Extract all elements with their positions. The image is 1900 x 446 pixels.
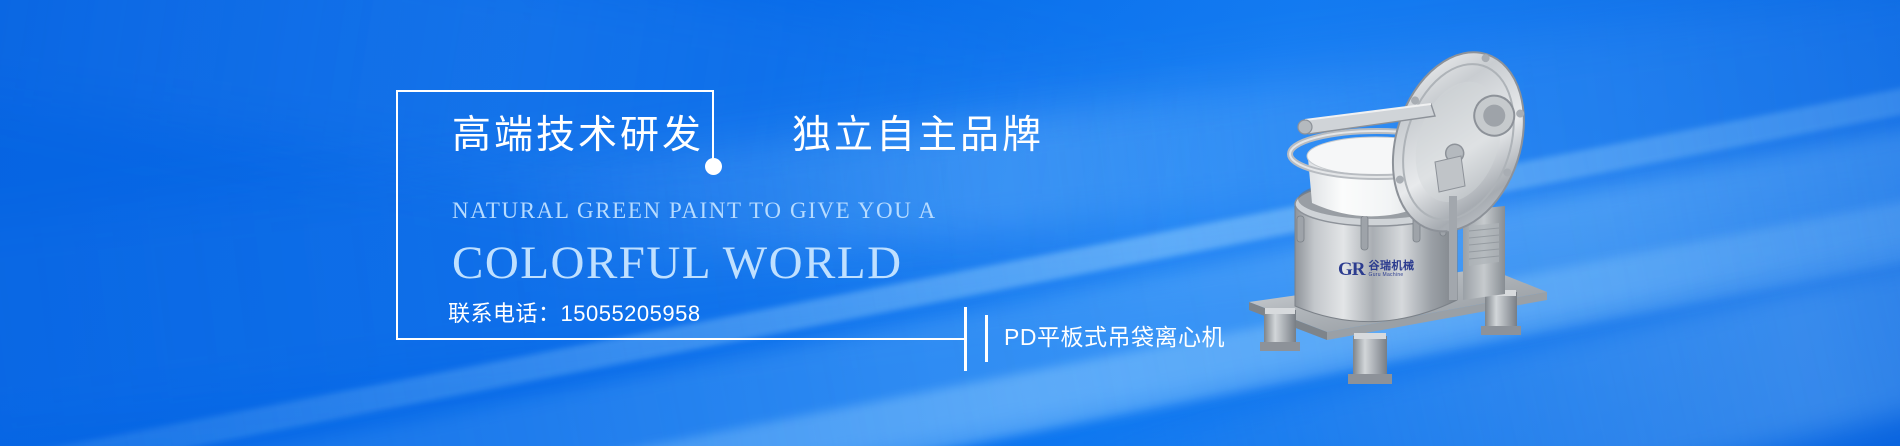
tagline-line-1: NATURAL GREEN PAINT TO GIVE YOU A bbox=[452, 198, 937, 224]
logo-text-block: 谷瑞机械 Guru Machine bbox=[1369, 261, 1415, 278]
machine-foot bbox=[1348, 333, 1392, 384]
headline-left-text: 高端技术研发 bbox=[452, 114, 704, 157]
background-streak bbox=[0, 24, 1900, 446]
contact-phone: 联系电话：15055205958 bbox=[448, 296, 701, 328]
logo-mark-text: GR bbox=[1338, 260, 1365, 279]
logo-chinese-name: 谷瑞机械 bbox=[1369, 261, 1415, 272]
caption-tick-long bbox=[964, 307, 967, 371]
tagline-line-2: COLORFUL WORLD bbox=[452, 236, 903, 290]
product-brand-logo: GR 谷瑞机械 Guru Machine bbox=[1338, 252, 1434, 286]
logo-english-name: Guru Machine bbox=[1369, 273, 1415, 278]
promo-banner: 高端技术研发独立自主品牌 NATURAL GREEN PAINT TO GIVE… bbox=[0, 0, 1900, 446]
headline: 高端技术研发独立自主品牌 bbox=[452, 116, 1044, 155]
bracket-left-line bbox=[396, 90, 398, 340]
machine-pipe bbox=[1449, 196, 1457, 300]
bullet-dot-icon bbox=[705, 158, 722, 175]
product-image bbox=[1235, 10, 1585, 430]
background-streak bbox=[0, 0, 1900, 446]
bracket-bottom-line bbox=[396, 338, 966, 340]
headline-right-text: 独立自主品牌 bbox=[792, 114, 1044, 157]
product-caption: PD平板式吊袋离心机 bbox=[1004, 318, 1225, 352]
machine-foot bbox=[1481, 290, 1521, 335]
machine-hinge bbox=[1435, 156, 1465, 192]
caption-tick-short bbox=[985, 315, 988, 362]
background-streak bbox=[0, 0, 1900, 446]
machine-foot bbox=[1260, 308, 1300, 351]
bracket-top-line bbox=[396, 90, 714, 92]
